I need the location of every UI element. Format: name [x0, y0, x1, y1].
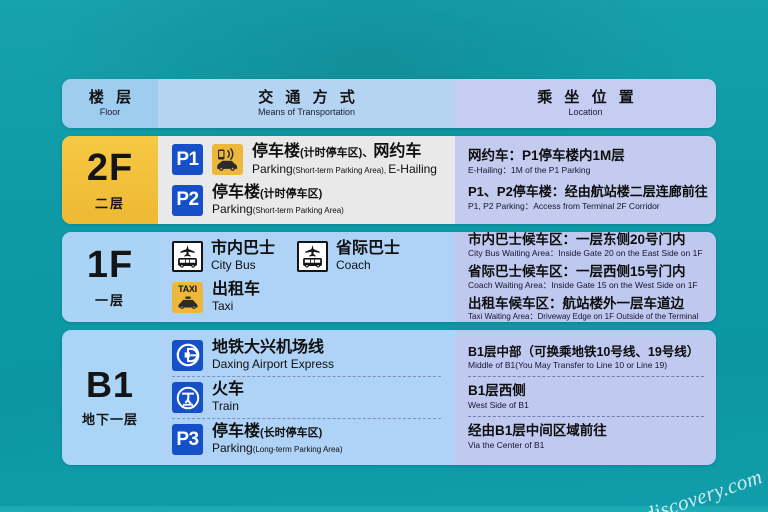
- location-divider: [468, 376, 704, 377]
- floor-label-1f: 1F 一层: [62, 232, 158, 322]
- floor-number-1f: 1F: [87, 246, 133, 284]
- transport-cn-city-bus: 市内巴士: [211, 240, 275, 258]
- location-en: E-Hailing：1M of the P1 Parking: [468, 165, 708, 176]
- location-cn: 市内巴士候车区：一层东侧20号门内: [468, 232, 708, 248]
- location-cell-b1: B1层中部（可换乘地铁10号线、19号线） Middle of B1(You M…: [455, 330, 716, 465]
- transport-en-train: Train: [212, 400, 244, 414]
- floor-name-cn-1f: 一层: [95, 290, 125, 309]
- location-entry: 经由B1层中间区域前往 Via the Center of B1: [455, 422, 716, 451]
- location-entry: 出租车候车区：航站楼外一层车道边 Taxi Waiting Area：Drive…: [455, 295, 716, 322]
- airport-transportation-sign: 楼 层 Floor 交 通 方 式 Means of Transportatio…: [62, 79, 716, 466]
- transport-en-city-bus: City Bus: [211, 259, 275, 273]
- floor-number-2f: 2F: [87, 149, 133, 187]
- location-cn: 出租车候车区：航站楼外一层车道边: [468, 295, 708, 313]
- header-means-cn: 交 通 方 式: [254, 89, 359, 106]
- location-entry: 市内巴士候车区：一层东侧20号门内 City Bus Waiting Area：…: [455, 232, 716, 260]
- floor-name-cn-2f: 二层: [95, 193, 125, 212]
- header-floor-cn: 楼 层: [85, 89, 135, 106]
- transport-en-metro: Daxing Airport Express: [212, 358, 334, 372]
- location-entry: 省际巴士候车区：一层西侧15号门内 Coach Waiting Area：Ins…: [455, 263, 716, 292]
- transport-en-p2: Parking(Short-term Parking Area): [212, 203, 344, 217]
- transport-text-city-bus: 市内巴士 City Bus: [211, 240, 275, 273]
- location-divider: [468, 416, 704, 417]
- transport-entry-taxi: TAXI 出租车 Taxi: [158, 281, 455, 314]
- metro-icon: [172, 340, 203, 371]
- floor-row-1f: 1F 一层: [62, 232, 716, 322]
- means-cell-2f: P1 停车楼(计时停车区)、网: [158, 136, 455, 224]
- transport-text-p3: 停车楼(长时停车区) Parking(Long-term Parking Are…: [212, 423, 343, 456]
- location-cn: B1层西侧: [468, 382, 708, 400]
- transport-entry-p3: P3 停车楼(长时停车区) Parking(Long-term Parking …: [158, 423, 455, 456]
- floor-number-b1: B1: [86, 367, 134, 403]
- location-en: Middle of B1(You May Transfer to Line 10…: [468, 360, 708, 371]
- transport-entry-train: 火车 Train: [158, 381, 455, 414]
- transport-cn-p3: 停车楼(长时停车区): [212, 423, 343, 441]
- location-cn: 网约车：P1停车楼内1M层: [468, 147, 708, 165]
- location-en: City Bus Waiting Area：Inside Gate 20 on …: [468, 248, 708, 259]
- transport-text-coach: 省际巴士 Coach: [336, 240, 400, 273]
- p3-parking-icon: P3: [172, 424, 203, 455]
- transport-en-coach: Coach: [336, 259, 400, 273]
- header-floor-cell: 楼 层 Floor: [62, 79, 158, 128]
- transport-en-p1: Parking(Short-term Parking Area), E-Hail…: [252, 163, 437, 177]
- header-location-en: Location: [568, 107, 602, 118]
- header-floor-en: Floor: [100, 107, 121, 118]
- location-en: Via the Center of B1: [468, 440, 708, 451]
- header-location-cn: 乘 坐 位 置: [533, 89, 638, 106]
- location-cn: B1层中部（可换乘地铁10号线、19号线）: [468, 344, 708, 360]
- transport-entry-p2: P2 停车楼(计时停车区) Parking(Short-term Parking…: [158, 184, 455, 217]
- means-cell-1f: 市内巴士 City Bus: [158, 232, 455, 322]
- means-divider: [172, 418, 441, 419]
- location-entry: P1、P2停车楼：经由航站楼二层连廊前往 P1, P2 Parking：Acce…: [455, 184, 716, 212]
- taxi-icon: TAXI: [172, 282, 203, 313]
- transport-text-taxi: 出租车 Taxi: [212, 281, 260, 314]
- transport-en-p3: Parking(Long-term Parking Area): [212, 442, 343, 456]
- location-cell-2f: 网约车：P1停车楼内1M层 E-Hailing：1M of the P1 Par…: [455, 136, 716, 224]
- transport-text-metro: 地铁大兴机场线 Daxing Airport Express: [212, 339, 334, 372]
- transport-text-p2: 停车楼(计时停车区) Parking(Short-term Parking Ar…: [212, 184, 344, 217]
- transport-entry-buses: 市内巴士 City Bus: [158, 240, 455, 273]
- header-means-cell: 交 通 方 式 Means of Transportation: [158, 79, 455, 128]
- transport-en-taxi: Taxi: [212, 300, 260, 314]
- train-icon: [172, 382, 203, 413]
- transport-cn-coach: 省际巴士: [336, 240, 400, 258]
- sign-header-row: 楼 层 Floor 交 通 方 式 Means of Transportatio…: [62, 79, 716, 128]
- p2-parking-icon: P2: [172, 185, 203, 216]
- location-cn: P1、P2停车楼：经由航站楼二层连廊前往: [468, 184, 708, 201]
- floor-row-2f: 2F 二层 P1: [62, 136, 716, 224]
- transport-cn-taxi: 出租车: [212, 281, 260, 299]
- floor-row-b1: B1 地下一层 地铁大兴机场线 Daxing Airport Express: [62, 330, 716, 465]
- floor-label-2f: 2F 二层: [62, 136, 158, 224]
- means-cell-b1: 地铁大兴机场线 Daxing Airport Express 火车: [158, 330, 455, 465]
- header-means-en: Means of Transportation: [258, 107, 355, 118]
- location-entry: B1层中部（可换乘地铁10号线、19号线） Middle of B1(You M…: [455, 344, 716, 372]
- p3-parking-icon-label: P3: [176, 429, 198, 451]
- means-divider: [172, 376, 441, 377]
- p2-parking-icon-label: P2: [176, 189, 198, 211]
- location-entry: 网约车：P1停车楼内1M层 E-Hailing：1M of the P1 Par…: [455, 147, 716, 176]
- location-cell-1f: 市内巴士候车区：一层东侧20号门内 City Bus Waiting Area：…: [455, 232, 716, 322]
- location-entry: B1层西侧 West Side of B1: [455, 382, 716, 411]
- header-location-cell: 乘 坐 位 置 Location: [455, 79, 716, 128]
- transport-cn-train: 火车: [212, 381, 244, 399]
- transport-cn-p1: 停车楼(计时停车区)、网约车: [252, 143, 437, 161]
- e-hailing-icon: [212, 144, 243, 175]
- taxi-icon-label: TAXI: [172, 284, 203, 294]
- p1-parking-icon-label: P1: [176, 149, 198, 171]
- transport-entry-city-bus: 市内巴士 City Bus: [172, 240, 275, 273]
- location-cn: 省际巴士候车区：一层西侧15号门内: [468, 263, 708, 281]
- location-en: P1, P2 Parking：Access from Terminal 2F C…: [468, 201, 708, 212]
- transport-cn-p2: 停车楼(计时停车区): [212, 184, 344, 202]
- location-en: Taxi Waiting Area：Driveway Edge on 1F Ou…: [468, 312, 708, 322]
- transport-text-p1: 停车楼(计时停车区)、网约车 Parking(Short-term Parkin…: [252, 143, 437, 176]
- city-bus-icon: [172, 241, 203, 272]
- location-cn: 经由B1层中间区域前往: [468, 422, 708, 440]
- location-en: Coach Waiting Area：Inside Gate 15 on the…: [468, 280, 708, 291]
- p1-parking-icon: P1: [172, 144, 203, 175]
- location-en: West Side of B1: [468, 400, 708, 411]
- transport-entry-coach: 省际巴士 Coach: [297, 240, 400, 273]
- floor-name-cn-b1: 地下一层: [82, 409, 138, 428]
- transport-text-train: 火车 Train: [212, 381, 244, 414]
- transport-entry-metro: 地铁大兴机场线 Daxing Airport Express: [158, 339, 455, 372]
- floor-label-b1: B1 地下一层: [62, 330, 158, 465]
- coach-icon: [297, 241, 328, 272]
- transport-entry-p1: P1 停车楼(计时停车区)、网: [158, 143, 455, 176]
- transport-cn-metro: 地铁大兴机场线: [212, 339, 334, 357]
